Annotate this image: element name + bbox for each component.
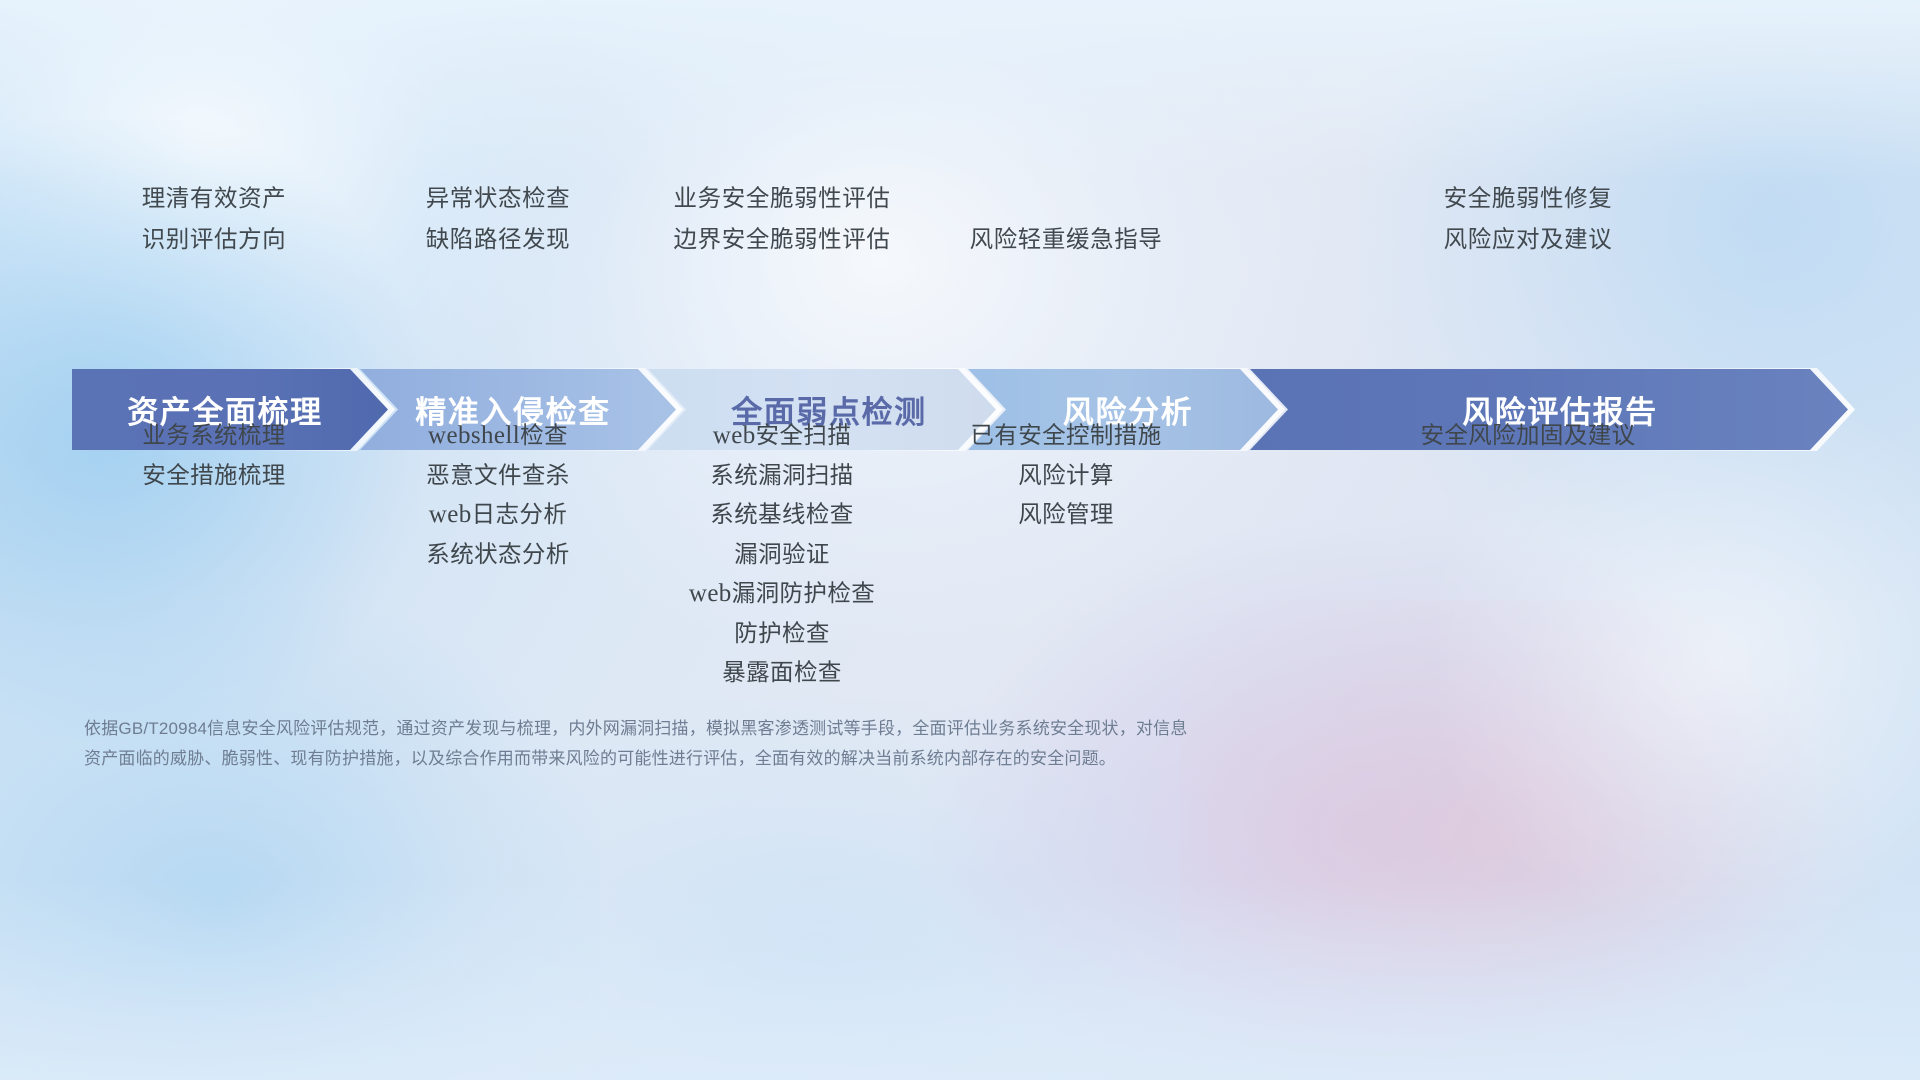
list-item: 业务系统梳理: [72, 416, 356, 456]
list-item: 风险计算: [924, 456, 1208, 496]
stage-items-risk-analysis: 已有安全控制措施 风险计算 风险管理: [924, 416, 1208, 693]
stage-notes-asset-inventory: 理清有效资产 识别评估方向: [72, 178, 356, 260]
stage-note-line: 安全脆弱性修复: [1208, 178, 1848, 219]
stage-note-line: 识别评估方向: [72, 219, 356, 260]
list-item: 安全风险加固及建议: [1208, 416, 1848, 456]
list-item: 漏洞验证: [640, 535, 924, 575]
footer-line: 依据GB/T20984信息安全风险评估规范，通过资产发现与梳理，内外网漏洞扫描，…: [84, 714, 1364, 744]
stage-notes-risk-analysis: 风险轻重缓急指导: [924, 178, 1208, 260]
list-item: webshell检查: [356, 416, 640, 456]
list-item: 风险管理: [924, 495, 1208, 535]
list-item: 恶意文件查杀: [356, 456, 640, 496]
stage-note-line: 风险应对及建议: [1208, 219, 1848, 260]
list-item: web日志分析: [356, 495, 640, 535]
list-item: 暴露面检查: [640, 653, 924, 693]
stage-items-weakness-detection: web安全扫描 系统漏洞扫描 系统基线检查 漏洞验证 web漏洞防护检查 防护检…: [640, 416, 924, 693]
footer-line: 资产面临的威胁、脆弱性、现有防护措施，以及综合作用而带来风险的可能性进行评估，全…: [84, 744, 1364, 774]
stage-notes-assessment-report: 安全脆弱性修复 风险应对及建议: [1208, 178, 1848, 260]
stage-note-line: 异常状态检查: [356, 178, 640, 219]
stage-notes-row: 理清有效资产 识别评估方向 异常状态检查 缺陷路径发现 业务安全脆弱性评估 边界…: [72, 178, 1848, 260]
list-item: web漏洞防护检查: [640, 574, 924, 614]
list-item: 防护检查: [640, 614, 924, 654]
stage-note-line: 风险轻重缓急指导: [924, 219, 1208, 260]
stage-note-line: 理清有效资产: [72, 178, 356, 219]
stage-notes-intrusion-inspection: 异常状态检查 缺陷路径发现: [356, 178, 640, 260]
stage-items-intrusion-inspection: webshell检查 恶意文件查杀 web日志分析 系统状态分析: [356, 416, 640, 693]
footer-description: 依据GB/T20984信息安全风险评估规范，通过资产发现与梳理，内外网漏洞扫描，…: [84, 714, 1364, 774]
list-item: web安全扫描: [640, 416, 924, 456]
stage-deliverables-row: 业务系统梳理 安全措施梳理 webshell检查 恶意文件查杀 web日志分析 …: [72, 416, 1848, 693]
stage-items-asset-inventory: 业务系统梳理 安全措施梳理: [72, 416, 356, 693]
process-diagram: 理清有效资产 识别评估方向 异常状态检查 缺陷路径发现 业务安全脆弱性评估 边界…: [0, 0, 1920, 1080]
stage-notes-weakness-detection: 业务安全脆弱性评估 边界安全脆弱性评估: [640, 178, 924, 260]
list-item: 安全措施梳理: [72, 456, 356, 496]
list-item: 系统基线检查: [640, 495, 924, 535]
stage-note-line: 缺陷路径发现: [356, 219, 640, 260]
stage-note-line: 业务安全脆弱性评估: [640, 178, 924, 219]
stage-note-line: 边界安全脆弱性评估: [640, 219, 924, 260]
list-item: 系统漏洞扫描: [640, 456, 924, 496]
list-item: 系统状态分析: [356, 535, 640, 575]
list-item: 已有安全控制措施: [924, 416, 1208, 456]
stage-items-assessment-report: 安全风险加固及建议: [1208, 416, 1848, 693]
